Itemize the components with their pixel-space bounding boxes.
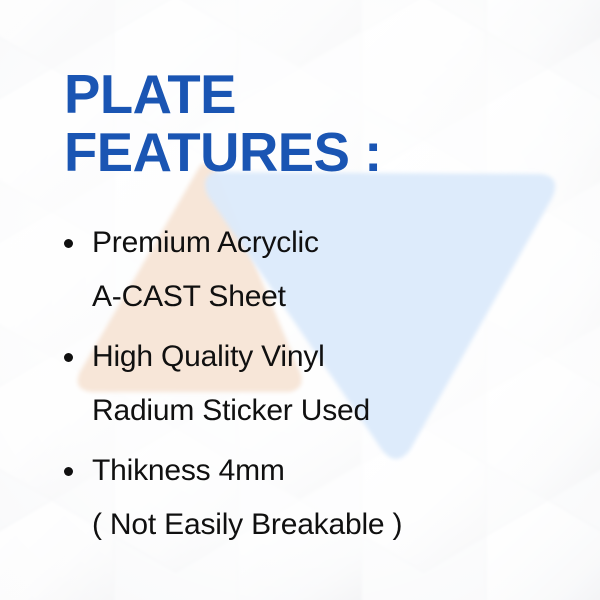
page-title: PLATE FEATURES : bbox=[64, 68, 534, 180]
list-item: Thikness 4mm ( Not Easily Breakable ) bbox=[58, 444, 558, 552]
feature-line-primary: Premium Acryclic bbox=[58, 216, 558, 270]
feature-line-primary: High Quality Vinyl bbox=[58, 330, 558, 384]
title-line-2: FEATURES : bbox=[64, 126, 529, 180]
list-item: Premium Acryclic A-CAST Sheet bbox=[58, 216, 558, 324]
bullet-dot-icon bbox=[64, 239, 73, 248]
title-line-1: PLATE bbox=[64, 68, 529, 122]
feature-line-primary: Thikness 4mm bbox=[58, 444, 558, 498]
feature-line-secondary: Radium Sticker Used bbox=[58, 384, 558, 438]
feature-text: Premium Acryclic bbox=[92, 226, 319, 259]
feature-line-secondary: A-CAST Sheet bbox=[58, 270, 558, 324]
features-list: Premium Acryclic A-CAST Sheet High Quali… bbox=[58, 216, 558, 558]
feature-text: Thikness 4mm bbox=[92, 454, 285, 487]
feature-line-secondary: ( Not Easily Breakable ) bbox=[58, 498, 558, 552]
poster-content: PLATE FEATURES : Premium Acryclic A-CAST… bbox=[0, 0, 600, 600]
feature-text: High Quality Vinyl bbox=[92, 340, 325, 373]
list-item: High Quality Vinyl Radium Sticker Used bbox=[58, 330, 558, 438]
feature-text: A-CAST Sheet bbox=[92, 280, 286, 313]
bullet-dot-icon bbox=[64, 353, 73, 362]
bullet-dot-icon bbox=[64, 467, 73, 476]
feature-text: Radium Sticker Used bbox=[92, 394, 370, 427]
plate-features-poster: PLATE FEATURES : Premium Acryclic A-CAST… bbox=[0, 0, 600, 600]
feature-text: ( Not Easily Breakable ) bbox=[92, 508, 402, 541]
